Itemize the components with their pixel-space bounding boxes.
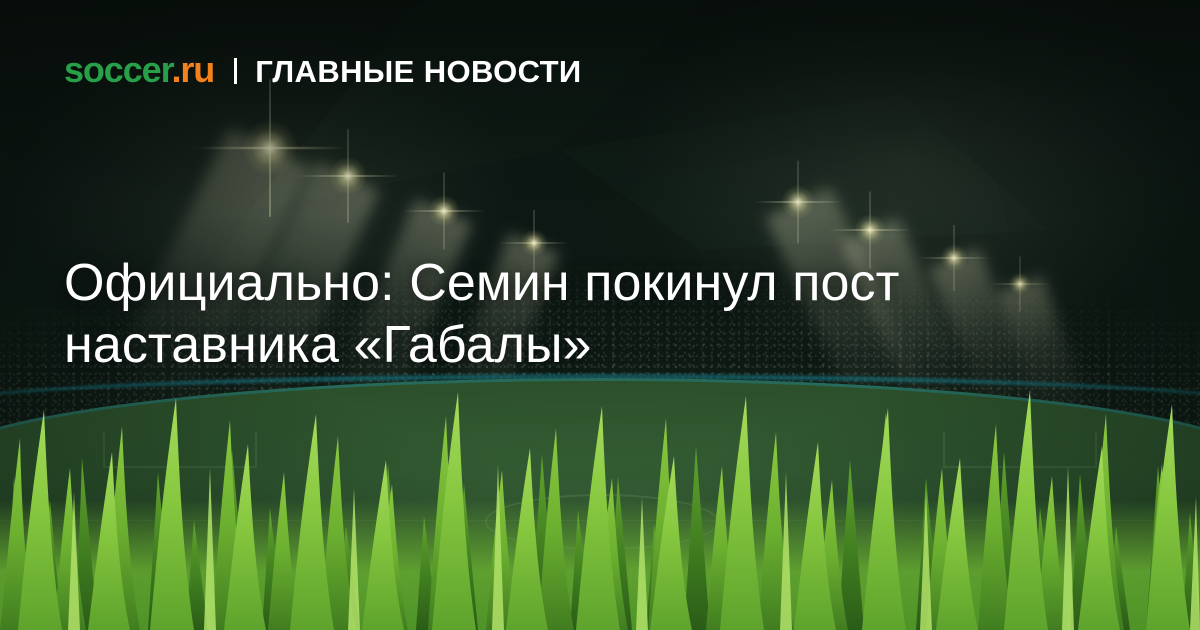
- floodlight-icon: [241, 119, 299, 177]
- social-share-card: soccer.ru ГЛАВНЫЕ НОВОСТИ Официально: Се…: [0, 0, 1200, 630]
- site-logo[interactable]: soccer.ru: [64, 52, 214, 88]
- card-header: soccer.ru ГЛАВНЫЕ НОВОСТИ: [64, 52, 582, 88]
- logo-tld-text: .ru: [172, 49, 215, 90]
- header-section-label: ГЛАВНЫЕ НОВОСТИ: [255, 56, 581, 87]
- header-divider: [234, 58, 237, 84]
- floodlight-icon: [781, 184, 816, 219]
- headline-line-2: наставника «Габалы»: [64, 314, 1064, 376]
- headline: Официально: Семин покинул пост наставник…: [64, 252, 1064, 377]
- headline-line-1: Официально: Семин покинул пост: [64, 252, 1064, 314]
- floodlight-icon: [428, 195, 460, 227]
- floodlight-icon: [328, 157, 367, 196]
- grass-foreground: [0, 380, 1200, 630]
- logo-name-text: soccer: [64, 49, 172, 90]
- floodlight-icon: [854, 214, 886, 246]
